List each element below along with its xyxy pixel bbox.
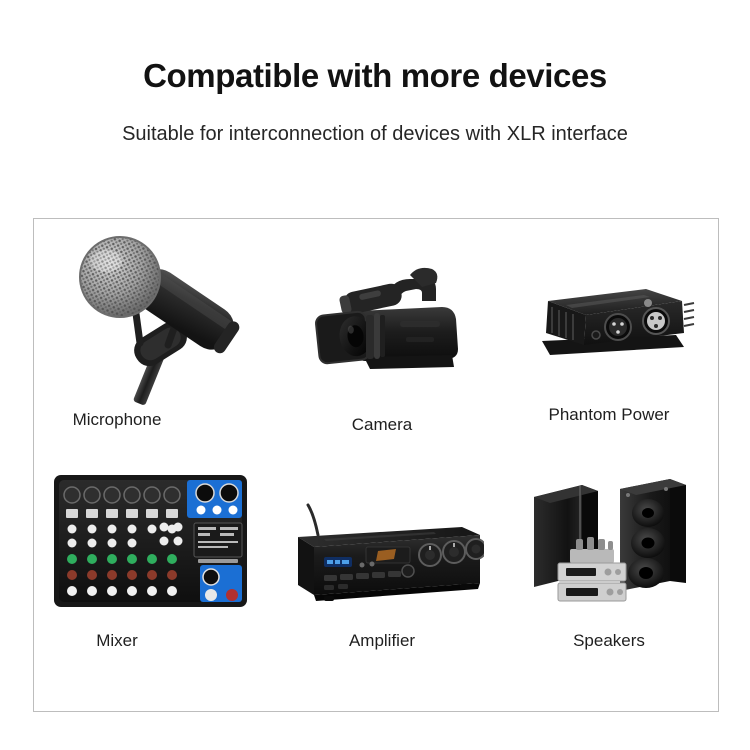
device-item-amplifier: Amplifier xyxy=(266,449,494,689)
page-subtitle: Suitable for interconnection of devices … xyxy=(0,120,750,148)
microphone-photo xyxy=(60,225,250,405)
page-title: Compatible with more devices xyxy=(0,56,750,96)
device-grid: Microphone xyxy=(34,219,718,711)
phantom-power-photo xyxy=(526,275,696,367)
device-label-amplifier: Amplifier xyxy=(268,631,496,651)
promo-page: Compatible with more devices Suitable fo… xyxy=(0,0,750,750)
device-item-phantom-power: Phantom Power xyxy=(496,219,718,449)
device-item-camera: Camera xyxy=(266,219,494,449)
device-item-microphone: Microphone xyxy=(36,219,264,449)
device-item-mixer: Mixer xyxy=(36,449,264,689)
camcorder-photo xyxy=(314,249,474,389)
device-label-mixer: Mixer xyxy=(3,631,231,651)
device-label-microphone: Microphone xyxy=(3,410,231,430)
device-label-camera: Camera xyxy=(268,415,496,435)
speakers-photo xyxy=(524,471,696,611)
audio-mixer-photo xyxy=(48,467,253,615)
device-compatibility-card: Microphone xyxy=(33,218,719,712)
device-label-phantom-power: Phantom Power xyxy=(498,405,720,425)
device-item-speakers: Speakers xyxy=(496,449,718,689)
amplifier-photo xyxy=(284,499,484,609)
device-label-speakers: Speakers xyxy=(498,631,720,651)
